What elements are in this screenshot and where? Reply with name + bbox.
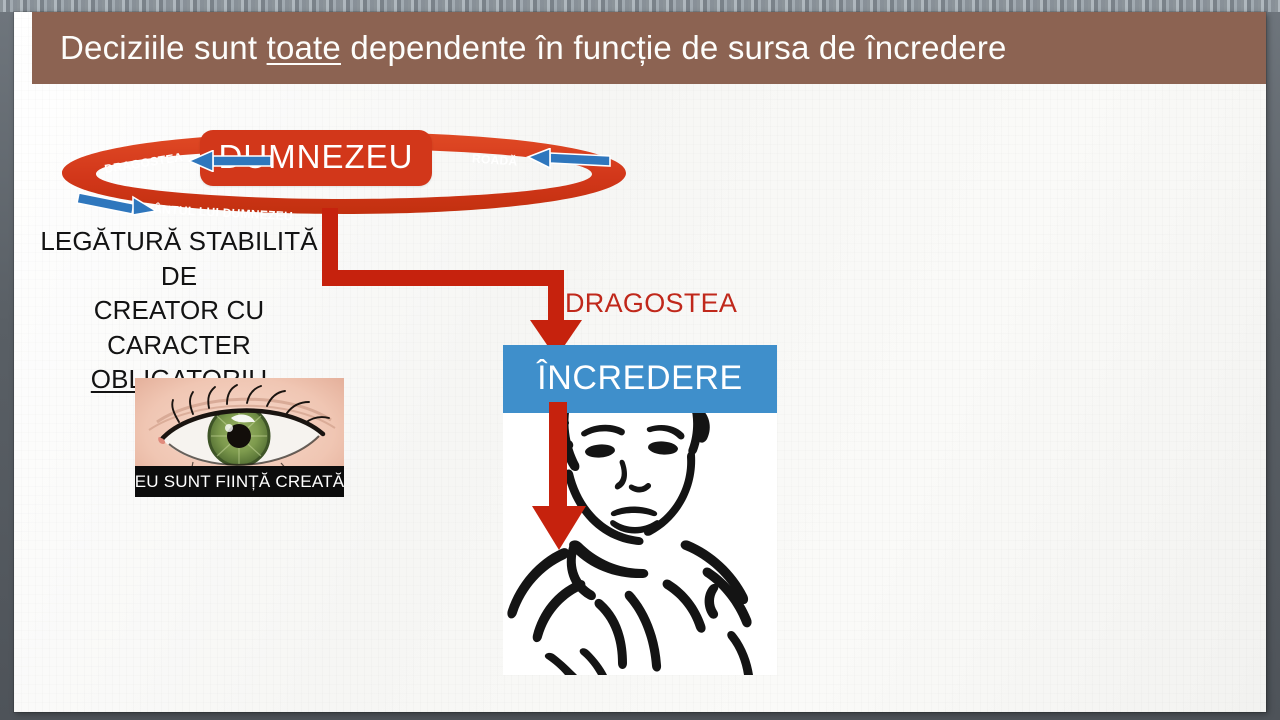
statement-legatura-block: LEGĂTURĂ STABILITĂ DE CREATOR CU CARACTE… [24, 224, 334, 397]
incredere-label: ÎNCREDERE [537, 361, 743, 397]
statement-line-1: LEGĂTURĂ STABILITĂ DE [24, 224, 334, 293]
presentation-slide: Deciziile sunt toate dependente în funcț… [14, 12, 1266, 712]
eye-caption-text: EU SUNT FIINȚĂ CREATĂ [135, 472, 344, 492]
eye-caption-bar: EU SUNT FIINȚĂ CREATĂ [135, 466, 344, 497]
arrow-left-icon-dragostea [183, 150, 275, 172]
window-top-texture-strip [0, 0, 1280, 12]
arrow-left-icon-roada [524, 148, 614, 170]
title-segment-1: Deciziile sunt [60, 29, 267, 66]
slide-title-bar: Deciziile sunt toate dependente în funcț… [32, 12, 1266, 84]
connector-label-dragostea: DRAGOSTEA [565, 288, 737, 319]
arrow-down-icon-incredere [530, 402, 592, 552]
title-emphasis-toate: toate [267, 29, 341, 66]
arrow-right-icon-cuvantul [76, 190, 168, 216]
title-segment-2: dependente în funcție de sursa de încred… [341, 29, 1007, 66]
elbow-arrow-down-icon [302, 208, 602, 368]
page-title: Deciziile sunt toate dependente în funcț… [32, 29, 1007, 67]
statement-line-2: CREATOR CU CARACTER [24, 293, 334, 362]
